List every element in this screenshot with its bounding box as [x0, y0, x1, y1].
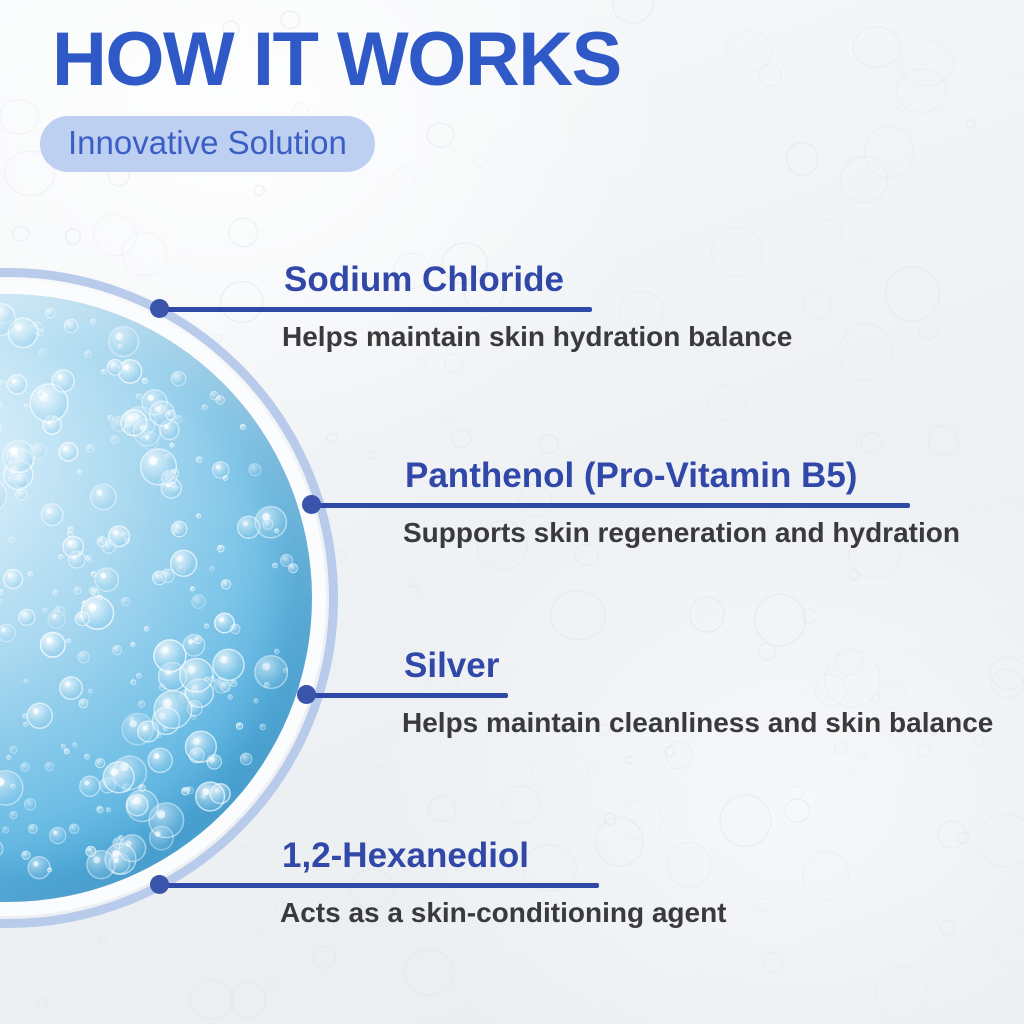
callout-description: Helps maintain cleanliness and skin bala… [305, 707, 993, 739]
callout-rule [305, 692, 508, 698]
callout-title: Panthenol (Pro-Vitamin B5) [310, 458, 960, 493]
gel-bubbles [0, 294, 312, 902]
infographic-canvas: HOW IT WORKS Innovative Solution Sodium … [0, 0, 1024, 1024]
callout-description: Acts as a skin-conditioning agent [158, 897, 727, 929]
callout-rule-line [158, 883, 599, 888]
callout-rule [310, 502, 910, 508]
gel-sphere-illustration [0, 268, 338, 928]
callout-sodium-chloride: Sodium Chloride Helps maintain skin hydr… [158, 262, 792, 353]
callout-hexanediol: 1,2-Hexanediol Acts as a skin-conditioni… [158, 838, 727, 929]
callout-rule-line [305, 693, 508, 698]
callout-rule [158, 306, 592, 312]
header-block: HOW IT WORKS Innovative Solution [52, 22, 621, 172]
callout-panthenol: Panthenol (Pro-Vitamin B5) Supports skin… [310, 458, 960, 549]
callout-title: Sodium Chloride [158, 262, 792, 297]
callout-description: Supports skin regeneration and hydration [310, 517, 960, 549]
callout-connector-dot [150, 875, 169, 894]
callout-connector-dot [297, 685, 316, 704]
callout-title: 1,2-Hexanediol [158, 838, 727, 873]
callout-title: Silver [305, 648, 993, 683]
callout-rule-line [158, 307, 592, 312]
callout-description: Helps maintain skin hydration balance [158, 321, 792, 353]
callout-rule [158, 882, 599, 888]
callout-connector-dot [150, 299, 169, 318]
callout-connector-dot [302, 495, 321, 514]
callout-silver: Silver Helps maintain cleanliness and sk… [305, 648, 993, 739]
subtitle-pill-badge: Innovative Solution [40, 116, 375, 172]
callout-rule-line [310, 503, 910, 508]
page-title: HOW IT WORKS [52, 22, 621, 98]
sphere-gel-core [0, 294, 312, 902]
